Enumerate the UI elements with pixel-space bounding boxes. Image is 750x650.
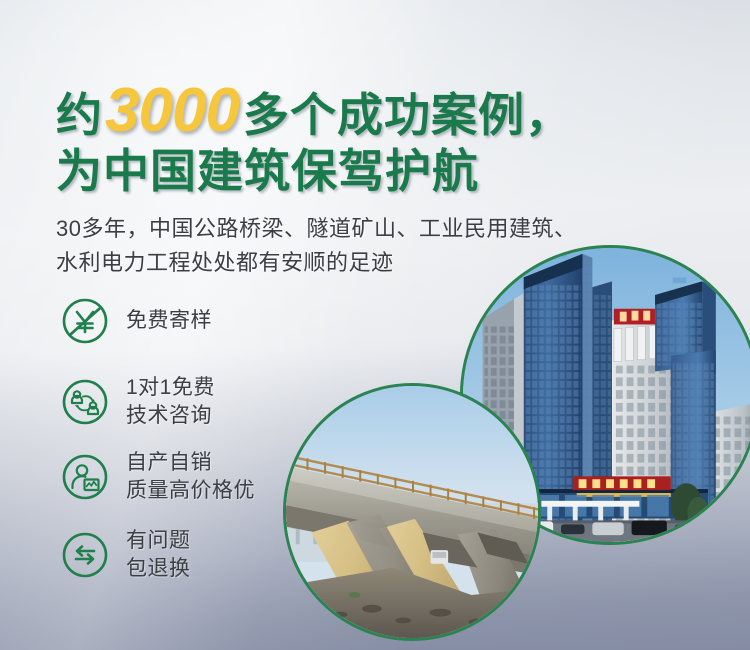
feature-label-self-produce: 自产自销 质量高价格优 [126, 449, 255, 504]
exchange-return-icon [60, 530, 110, 580]
feature-line-1: 有问题 [126, 527, 191, 555]
headline-prefix: 约 [56, 92, 103, 138]
headline: 约 3000 多个成功案例， 为中国建筑保驾护航 [56, 80, 572, 194]
feature-label-free-sample: 免费寄样 [126, 307, 212, 335]
no-fee-yuan-icon [60, 296, 110, 346]
feature-item-self-produce: 自产自销 质量高价格优 [60, 449, 310, 504]
headline-line-1: 约 3000 多个成功案例， [56, 80, 572, 142]
feature-line-1: 自产自销 [126, 449, 255, 477]
bridge-photo [283, 383, 541, 641]
headline-suffix: 多个成功案例， [243, 92, 572, 138]
feature-label-exchange: 有问题 包退换 [126, 527, 191, 582]
promo-banner: 约 3000 多个成功案例， 为中国建筑保驾护航 30多年，中国公路桥梁、隧道矿… [0, 0, 750, 650]
feature-line-1: 免费寄样 [126, 309, 212, 332]
feature-label-consultation: 1对1免费 技术咨询 [126, 374, 215, 429]
feature-item-free-sample: 免费寄样 [60, 296, 310, 346]
headline-number: 3000 [105, 80, 239, 142]
subtitle-line-1: 30多年，中国公路桥梁、隧道矿山、工业民用建筑、 [56, 212, 576, 246]
feature-list: 免费寄样 1对1免费 技术咨询 [60, 296, 310, 604]
feature-item-consultation: 1对1免费 技术咨询 [60, 374, 310, 429]
bridge-photo-image [286, 386, 538, 638]
feature-line-2: 技术咨询 [126, 402, 215, 430]
headline-line-2: 为中国建筑保驾护航 [56, 148, 572, 194]
self-produce-sell-icon [60, 452, 110, 502]
one-on-one-consult-icon [60, 377, 110, 427]
feature-line-2: 质量高价格优 [126, 477, 255, 505]
feature-line-1: 1对1免费 [126, 374, 215, 402]
bridge-illustration [286, 386, 538, 638]
feature-item-exchange: 有问题 包退换 [60, 527, 310, 582]
feature-line-2: 包退换 [126, 555, 191, 583]
